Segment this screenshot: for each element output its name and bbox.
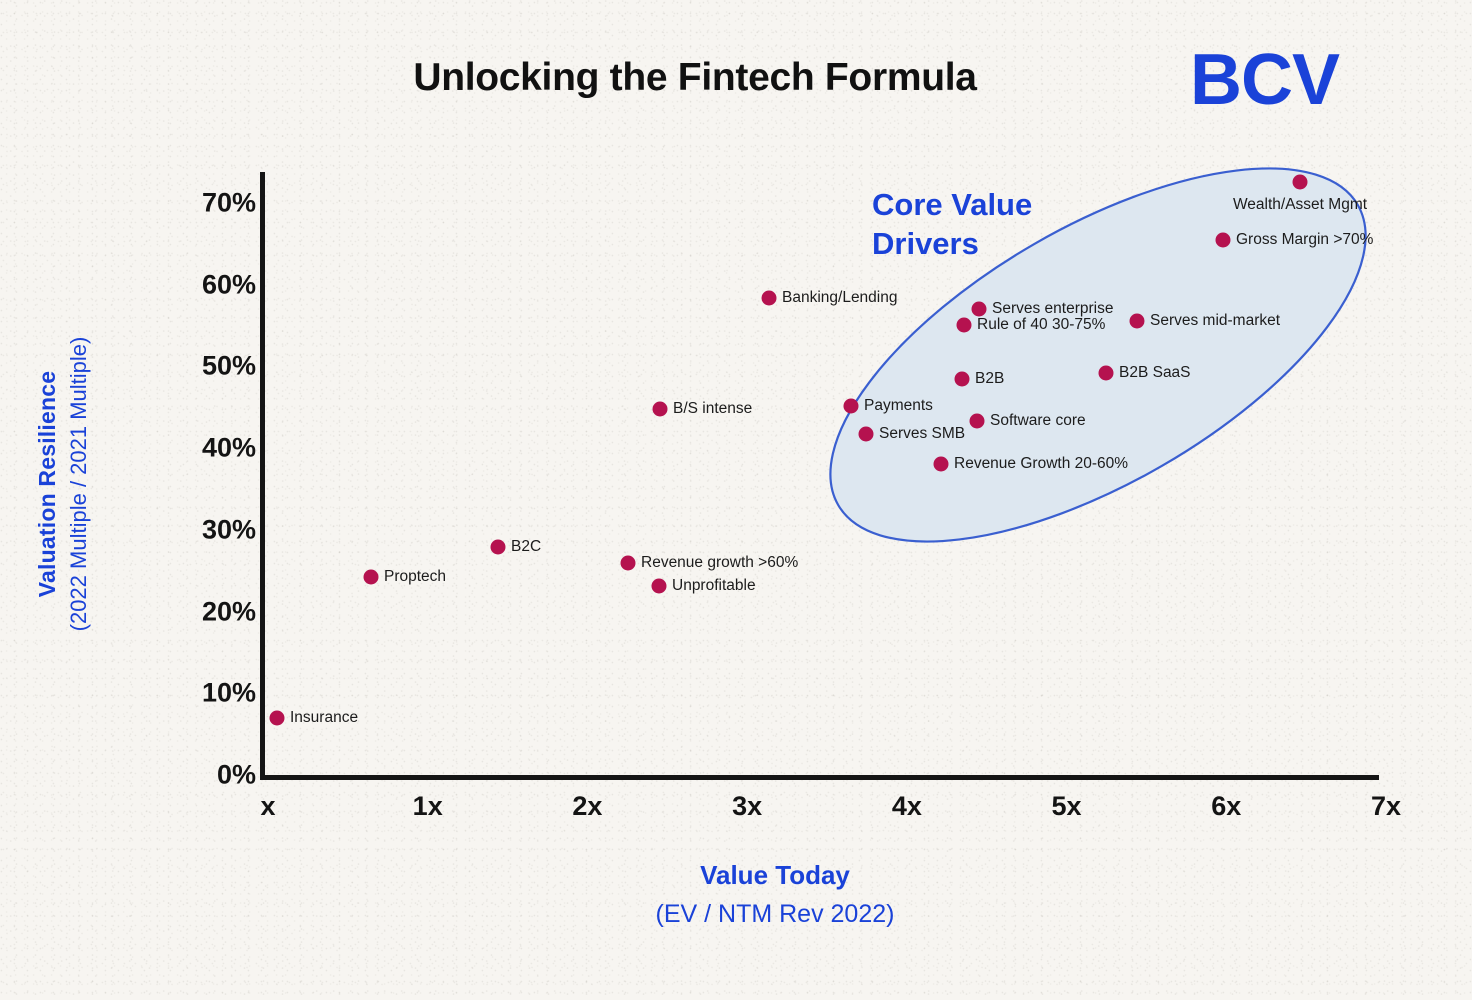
data-point	[970, 414, 985, 429]
data-point	[491, 540, 506, 555]
data-point	[653, 402, 668, 417]
data-point-label: Unprofitable	[672, 577, 756, 595]
data-point-label: Software core	[990, 412, 1086, 430]
data-point-label: Insurance	[290, 709, 358, 727]
data-point	[270, 711, 285, 726]
data-point	[844, 399, 859, 414]
data-point-label: B2C	[511, 538, 541, 556]
data-point	[859, 427, 874, 442]
data-point	[1216, 233, 1231, 248]
data-point	[1293, 175, 1308, 190]
data-point	[364, 570, 379, 585]
data-point-label: Serves enterprise	[992, 300, 1113, 318]
data-point-label: Wealth/Asset Mgmt	[1233, 196, 1367, 214]
data-point-label: B2B SaaS	[1119, 364, 1191, 382]
data-point-label: B2B	[975, 370, 1004, 388]
data-point-label: Revenue Growth 20-60%	[954, 455, 1128, 473]
data-point-label: Serves mid-market	[1150, 312, 1280, 330]
data-point	[1099, 366, 1114, 381]
data-point-label: Proptech	[384, 568, 446, 586]
data-point	[955, 372, 970, 387]
data-point-label: Gross Margin >70%	[1236, 231, 1373, 249]
data-point	[621, 556, 636, 571]
data-point-label: Rule of 40 30-75%	[977, 316, 1105, 334]
data-point-label: Banking/Lending	[782, 289, 898, 307]
data-point-label: B/S intense	[673, 400, 752, 418]
data-point	[1130, 314, 1145, 329]
data-point	[957, 318, 972, 333]
data-point	[934, 457, 949, 472]
data-point-label: Revenue growth >60%	[641, 554, 798, 572]
data-point	[972, 302, 987, 317]
chart-canvas: Unlocking the Fintech Formula BCV Core V…	[0, 0, 1472, 1000]
data-point-label: Serves SMB	[879, 425, 965, 443]
data-point	[762, 291, 777, 306]
scatter-plot-area: InsuranceProptechB2CRevenue growth >60%U…	[0, 0, 1472, 1000]
data-point	[652, 579, 667, 594]
data-point-label: Payments	[864, 397, 933, 415]
